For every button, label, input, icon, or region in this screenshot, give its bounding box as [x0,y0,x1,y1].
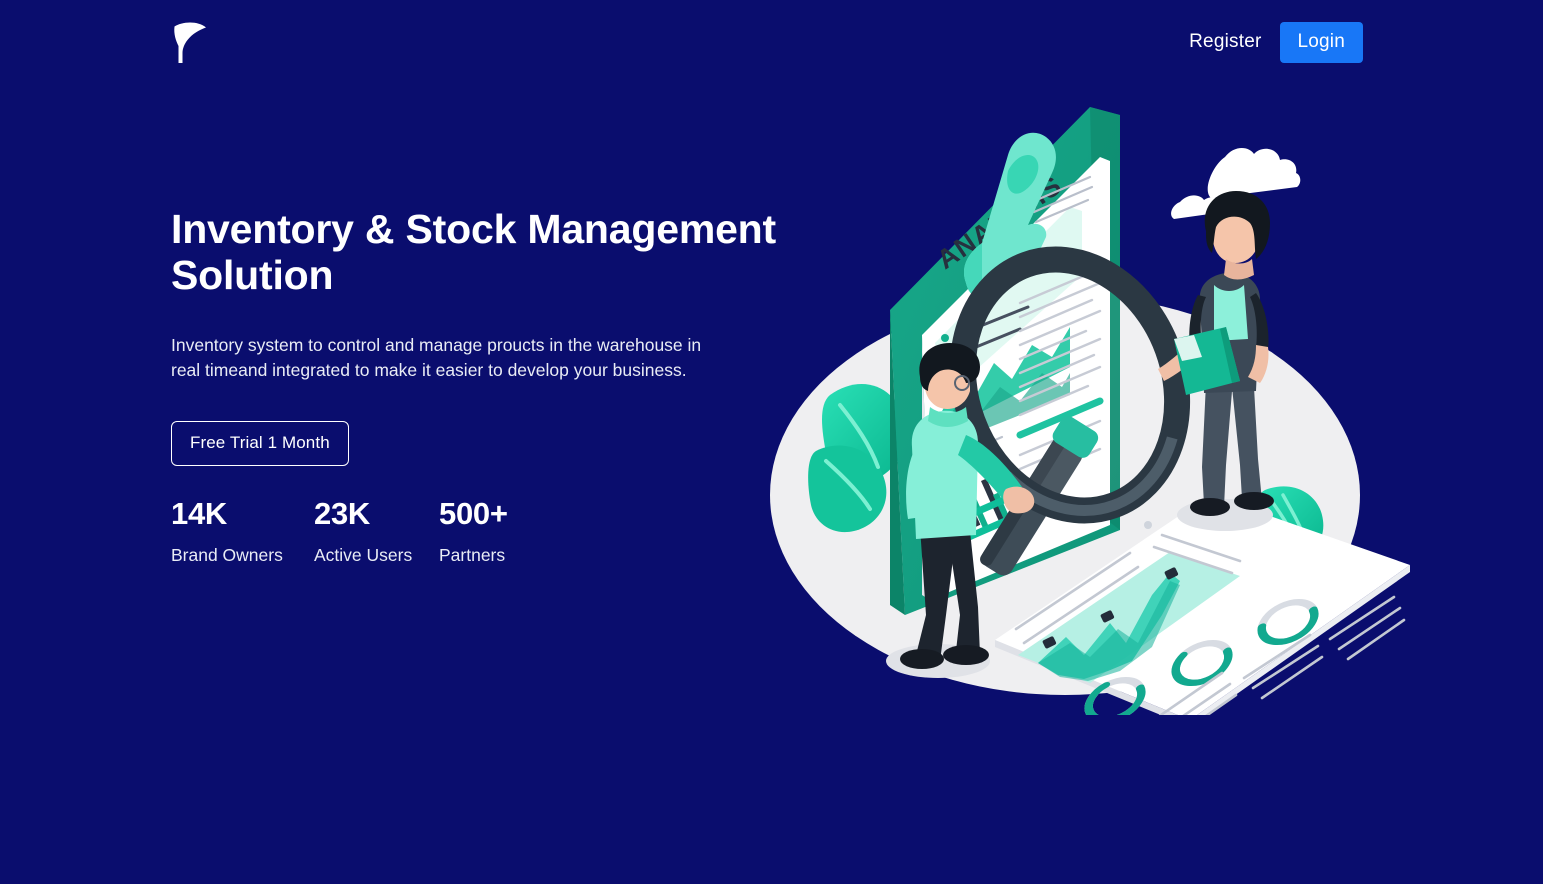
brand-logo-link[interactable] [170,20,210,64]
stat-label: Active Users [314,543,439,567]
hero-subtitle: Inventory system to control and manage p… [171,333,716,382]
header-nav: Register Login [1185,22,1363,63]
stat-item: 500+ Partners [439,496,559,567]
stats-row: 14K Brand Owners 23K Active Users 500+ P… [171,496,811,567]
site-header: Register Login [0,0,1543,84]
stat-label: Partners [439,543,559,567]
stat-value: 500+ [439,496,559,532]
leaf-logo-icon [170,20,210,64]
free-trial-button[interactable]: Free Trial 1 Month [171,421,349,466]
stat-label: Brand Owners [171,543,314,567]
stat-value: 14K [171,496,314,532]
stat-item: 14K Brand Owners [171,496,314,567]
page-title: Inventory & Stock Management Solution [171,206,781,298]
register-link[interactable]: Register [1185,25,1265,59]
cloud-large [1208,148,1301,198]
isometric-analysis-svg: ANALYSIS [770,95,1410,715]
stat-item: 23K Active Users [314,496,439,567]
stat-value: 23K [314,496,439,532]
hero-content: Inventory & Stock Management Solution In… [171,206,811,567]
hero-illustration: ANALYSIS [770,95,1410,715]
login-button[interactable]: Login [1280,22,1364,63]
